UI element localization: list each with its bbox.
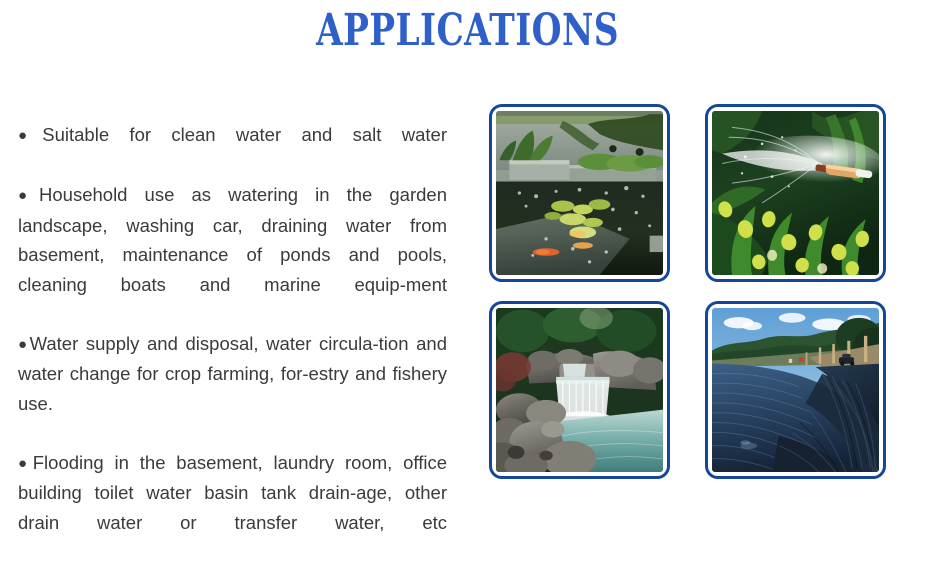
feature-item-text: Flooding in the basement, laundry room, … [18,452,447,533]
photo-frame-lined-reservoir: Large pond lined with dark liner under a… [705,301,886,479]
photo-frame-koi-pond: Backyard koi pond with concrete planters… [489,104,670,282]
photo-garden-sprinkler [712,111,879,275]
bullet-icon: ● [18,455,33,472]
bullet-icon: ● [18,336,30,353]
photo-rock-waterfall [496,308,663,472]
page-title: APPLICATIONS [103,8,832,54]
photo-frame-rock-waterfall: Landscaped rock waterfall flowing into a… [489,301,670,479]
bullet-icon: ● [18,127,42,144]
feature-item-clean-salt-water: ●Suitable for clean water and salt water [18,120,447,180]
feature-item-text: Household use as watering in the garden … [18,184,447,295]
feature-item-household-use: ●Household use as watering in the garden… [18,180,447,329]
application-photo-gallery: Backyard koi pond with concrete planters… [489,104,887,480]
feature-item-flooding-drainage: ●Flooding in the basement, laundry room,… [18,448,447,567]
feature-item-text: Suitable for clean water and salt water [42,124,447,145]
applications-feature-list: ●Suitable for clean water and salt water… [18,120,447,567]
photo-lined-reservoir [712,308,879,472]
feature-item-water-supply-disposal: ●Water supply and disposal, water circul… [18,329,447,448]
bullet-icon: ● [18,187,39,204]
photo-koi-pond [496,111,663,275]
feature-item-text: Water supply and disposal, water circula… [18,333,447,414]
photo-frame-garden-sprinkler: Garden sprinkler spraying water over yel… [705,104,886,282]
